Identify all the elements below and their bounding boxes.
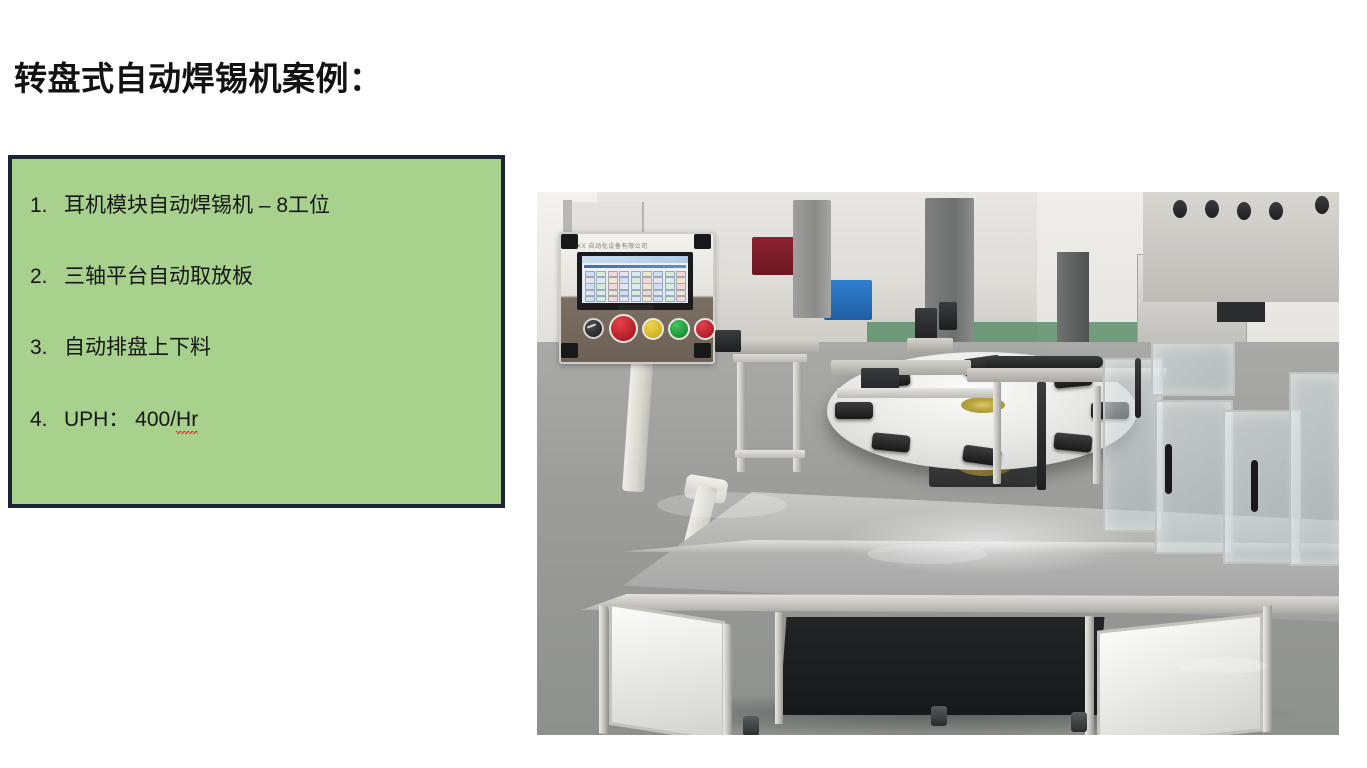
hmi-vendor-logo [619,305,653,310]
gray-column-panel-3 [1057,252,1089,350]
cabinet-door-left[interactable] [609,603,725,735]
cabinet-door-right[interactable] [1097,613,1263,735]
page-title: 转盘式自动焊锡机案例： [14,52,383,100]
floor-highlight [657,492,787,518]
spellcheck-word: Hr [176,408,198,434]
caster-wheel [743,716,759,735]
list-item-label: 耳机模块自动焊锡机 – 8工位 [64,193,493,218]
gantry-beam [837,388,997,398]
list-item-label: 三轴平台自动取放板 [64,264,493,289]
hmi-screen-button[interactable] [665,296,675,302]
uph-value: UPH： 400/ [64,408,176,431]
rear-panel-knob [1173,200,1187,218]
linear-rail [831,360,971,375]
hmi-screen-button[interactable] [642,296,652,302]
turntable-station-fixture [835,402,873,419]
hmi-screen-button[interactable] [585,296,595,302]
emergency-stop-button[interactable] [609,314,638,343]
rear-panel-knob [1269,202,1283,220]
rear-panel-knob [1237,202,1251,220]
spec-list: 1. 耳机模块自动焊锡机 – 8工位 2. 三轴平台自动取放板 3. 自动排盘上… [22,193,493,478]
conveyor-leg-dark [1037,382,1046,490]
floor-highlight [867,544,987,564]
safety-guard-panel [1289,372,1339,566]
hmi-screen-titlebar [584,265,686,268]
list-item-label: UPH： 400/Hr [64,407,493,432]
cabinet-recess [780,617,1105,715]
hmi-screen-header [582,256,688,263]
rear-panel-knob [1205,200,1219,218]
cabinet-leg [599,605,608,734]
list-item-number: 1. [22,193,64,218]
hmi-brand-text: XX 自动化设备有限公司 [577,241,697,250]
yellow-button[interactable] [642,318,664,340]
rear-panel-knob [1315,196,1329,214]
hmi-screen-button[interactable] [676,296,686,302]
table-reflection [837,507,1137,577]
hmi-corner-cap [694,343,711,358]
hmi-corner-cap [561,343,578,358]
list-item-number: 3. [22,335,64,360]
spec-callout-box: 1. 耳机模块自动焊锡机 – 8工位 2. 三轴平台自动取放板 3. 自动排盘上… [8,155,505,508]
wire-harness [1135,358,1141,418]
hmi-screen-button[interactable] [596,296,606,302]
guard-door-handle [1251,460,1258,512]
caster-wheel [1071,712,1087,732]
blue-parts-bin [824,280,872,320]
list-item-label: 自动排盘上下料 [64,335,493,360]
list-item: 2. 三轴平台自动取放板 [22,264,493,289]
hmi-corner-cap [561,234,578,249]
turntable-station-fixture [1053,432,1092,453]
hmi-screen-button[interactable] [619,296,629,302]
tray-conveyor-belt [985,356,1103,368]
cabinet-leg [775,612,783,724]
selector-knob[interactable] [583,318,604,339]
list-item: 1. 耳机模块自动焊锡机 – 8工位 [22,193,493,218]
list-item-number: 2. [22,264,64,289]
solder-head [939,302,957,330]
servo-motor [715,330,741,352]
hmi-screen-button-row[interactable] [585,296,688,302]
hmi-touchscreen[interactable] [582,256,688,303]
conveyor-leg [993,382,1001,484]
hmi-screen-button[interactable] [653,296,663,302]
list-item: 3. 自动排盘上下料 [22,335,493,360]
red-stop-button[interactable] [694,318,716,340]
solder-head-mount [907,338,953,352]
safety-guard-panel [1151,342,1235,396]
guard-door-handle [1165,444,1172,494]
cabinet-leg [1263,606,1272,733]
gray-column-panel-1 [793,200,831,318]
hmi-screen-button[interactable] [631,296,641,302]
list-item: 4. UPH： 400/Hr [22,407,493,432]
machine-photo: XX 自动化设备有限公司 [537,192,1339,735]
conveyor-leg [1093,386,1101,484]
solder-head [915,308,937,342]
list-item-number: 4. [22,407,64,432]
turntable-station-fixture [872,432,911,453]
gantry-beam [735,450,805,458]
green-start-button[interactable] [668,318,690,340]
cabinet-leg [723,623,732,735]
hmi-screen-button[interactable] [608,296,618,302]
caster-wheel [931,706,947,726]
floor-highlight [1177,658,1267,674]
